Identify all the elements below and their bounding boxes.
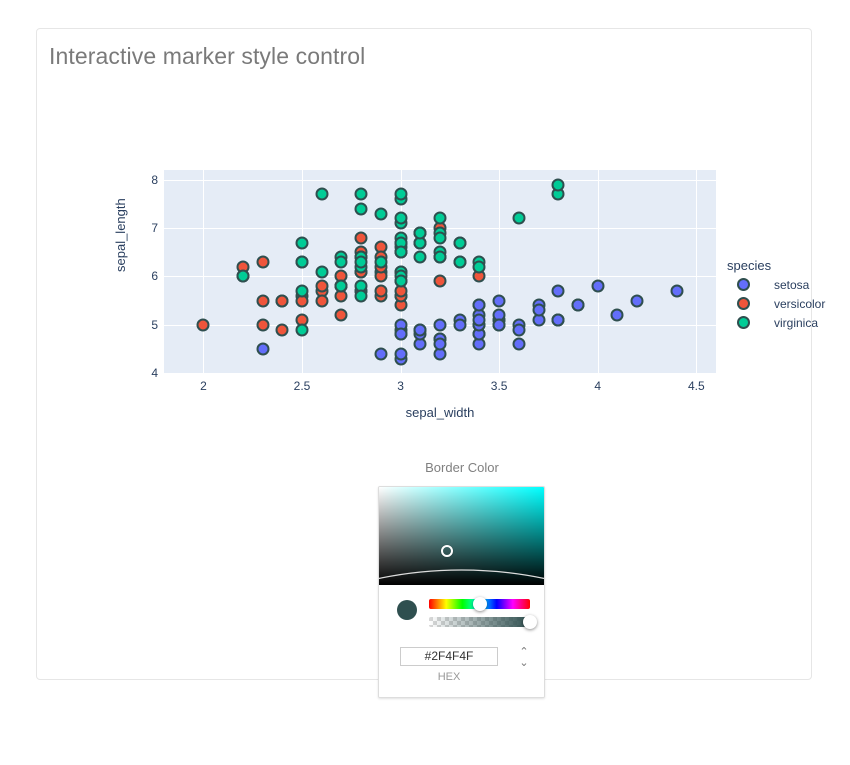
x-axis-label: sepal_width [37, 405, 843, 420]
legend-label: versicolor [774, 297, 825, 311]
scatter-point[interactable] [512, 212, 525, 225]
scatter-point[interactable] [256, 318, 269, 331]
scatter-point[interactable] [335, 255, 348, 268]
legend-label: virginica [774, 316, 818, 330]
scatter-point[interactable] [414, 323, 427, 336]
value-stepper[interactable]: ⌃ ⌄ [517, 647, 531, 673]
x-tick-label: 4.5 [676, 379, 716, 393]
gridline-vertical [598, 170, 599, 373]
scatter-point[interactable] [315, 265, 328, 278]
scatter-point[interactable] [670, 284, 683, 297]
hex-caption: HEX [400, 671, 498, 683]
legend-swatch-icon [737, 278, 750, 291]
scatter-point[interactable] [434, 275, 447, 288]
scatter-point[interactable] [611, 309, 624, 322]
alpha-slider[interactable] [429, 617, 530, 627]
scatter-point[interactable] [414, 251, 427, 264]
scatter-point[interactable] [473, 313, 486, 326]
scatter-point[interactable] [355, 289, 368, 302]
scatter-point[interactable] [296, 236, 309, 249]
scatter-point[interactable] [276, 294, 289, 307]
scatter-point[interactable] [394, 212, 407, 225]
scatter-point[interactable] [256, 255, 269, 268]
scatter-point[interactable] [552, 313, 565, 326]
scatter-point[interactable] [355, 202, 368, 215]
x-tick-label: 2 [183, 379, 223, 393]
y-axis-label: sepal_length [113, 198, 128, 272]
y-tick-label: 8 [136, 173, 158, 187]
scatter-point[interactable] [473, 260, 486, 273]
scatter-point[interactable] [256, 294, 269, 307]
y-tick-label: 4 [136, 366, 158, 380]
scatter-point[interactable] [493, 318, 506, 331]
scatter-point[interactable] [335, 280, 348, 293]
scatter-point[interactable] [552, 284, 565, 297]
scatter-point[interactable] [315, 188, 328, 201]
scatter-point[interactable] [512, 338, 525, 351]
scatter-point[interactable] [493, 294, 506, 307]
gridline-horizontal [164, 180, 716, 181]
x-tick-label: 4 [578, 379, 618, 393]
scatter-point[interactable] [374, 347, 387, 360]
y-tick-label: 7 [136, 221, 158, 235]
scatter-point[interactable] [315, 280, 328, 293]
scatter-point[interactable] [296, 284, 309, 297]
stepper-down-icon[interactable]: ⌄ [517, 658, 531, 669]
hex-input[interactable] [400, 647, 498, 666]
scatter-point[interactable] [591, 280, 604, 293]
gridline-vertical [302, 170, 303, 373]
scatter-point[interactable] [631, 294, 644, 307]
x-tick-label: 3 [381, 379, 421, 393]
scatter-point[interactable] [453, 255, 466, 268]
legend-item-versicolor[interactable]: versicolor [737, 297, 825, 311]
scatter-point[interactable] [434, 231, 447, 244]
scatter-point[interactable] [197, 318, 210, 331]
scatter-point[interactable] [374, 207, 387, 220]
alpha-slider-knob[interactable] [523, 615, 537, 629]
scatter-point[interactable] [394, 347, 407, 360]
scatter-point[interactable] [394, 328, 407, 341]
color-swatch [397, 600, 417, 620]
scatter-point[interactable] [532, 304, 545, 317]
legend-title: species [727, 258, 771, 273]
legend-label: setosa [774, 278, 809, 292]
scatter-point[interactable] [394, 246, 407, 259]
saturation-value-area[interactable] [379, 487, 544, 585]
x-tick-label: 2.5 [282, 379, 322, 393]
scatter-point[interactable] [296, 323, 309, 336]
scatter-point[interactable] [434, 338, 447, 351]
scatter-point[interactable] [453, 236, 466, 249]
scatter-point[interactable] [434, 212, 447, 225]
plot-card: Interactive marker style control 45678 2… [36, 28, 812, 680]
scatter-point[interactable] [236, 270, 249, 283]
scatter-point[interactable] [552, 178, 565, 191]
scatter-point[interactable] [374, 284, 387, 297]
scatter-point[interactable] [414, 226, 427, 239]
plot-area[interactable] [164, 170, 716, 373]
legend-item-setosa[interactable]: setosa [737, 278, 809, 292]
hue-slider[interactable] [429, 599, 530, 609]
scatter-point[interactable] [296, 255, 309, 268]
scatter-point[interactable] [572, 299, 585, 312]
legend-swatch-icon [737, 297, 750, 310]
scatter-point[interactable] [256, 342, 269, 355]
page-title: Interactive marker style control [49, 43, 365, 70]
scatter-point[interactable] [394, 188, 407, 201]
legend-item-virginica[interactable]: virginica [737, 316, 818, 330]
scatter-plot: 45678 22.533.544.5 sepal_length sepal_wi… [37, 114, 813, 414]
scatter-point[interactable] [434, 318, 447, 331]
scatter-point[interactable] [453, 318, 466, 331]
scatter-point[interactable] [355, 231, 368, 244]
y-tick-label: 6 [136, 269, 158, 283]
scatter-point[interactable] [355, 188, 368, 201]
color-picker[interactable]: HEX ⌃ ⌄ [378, 486, 545, 698]
scatter-point[interactable] [512, 323, 525, 336]
scatter-point[interactable] [355, 255, 368, 268]
scatter-point[interactable] [374, 255, 387, 268]
scatter-point[interactable] [473, 299, 486, 312]
scatter-point[interactable] [394, 275, 407, 288]
color-picker-controls: HEX ⌃ ⌄ [379, 585, 544, 698]
scatter-point[interactable] [276, 323, 289, 336]
gridline-vertical [499, 170, 500, 373]
border-color-label: Border Color [37, 460, 850, 475]
gridline-vertical [203, 170, 204, 373]
y-tick-label: 5 [136, 318, 158, 332]
legend-swatch-icon [737, 316, 750, 329]
saturation-value-pointer[interactable] [441, 545, 453, 557]
scatter-point[interactable] [315, 294, 328, 307]
scatter-point[interactable] [434, 251, 447, 264]
app-root: Interactive marker style control 45678 2… [0, 0, 850, 765]
scatter-point[interactable] [335, 309, 348, 322]
gridline-vertical [696, 170, 697, 373]
hue-slider-knob[interactable] [473, 597, 487, 611]
x-tick-label: 3.5 [479, 379, 519, 393]
